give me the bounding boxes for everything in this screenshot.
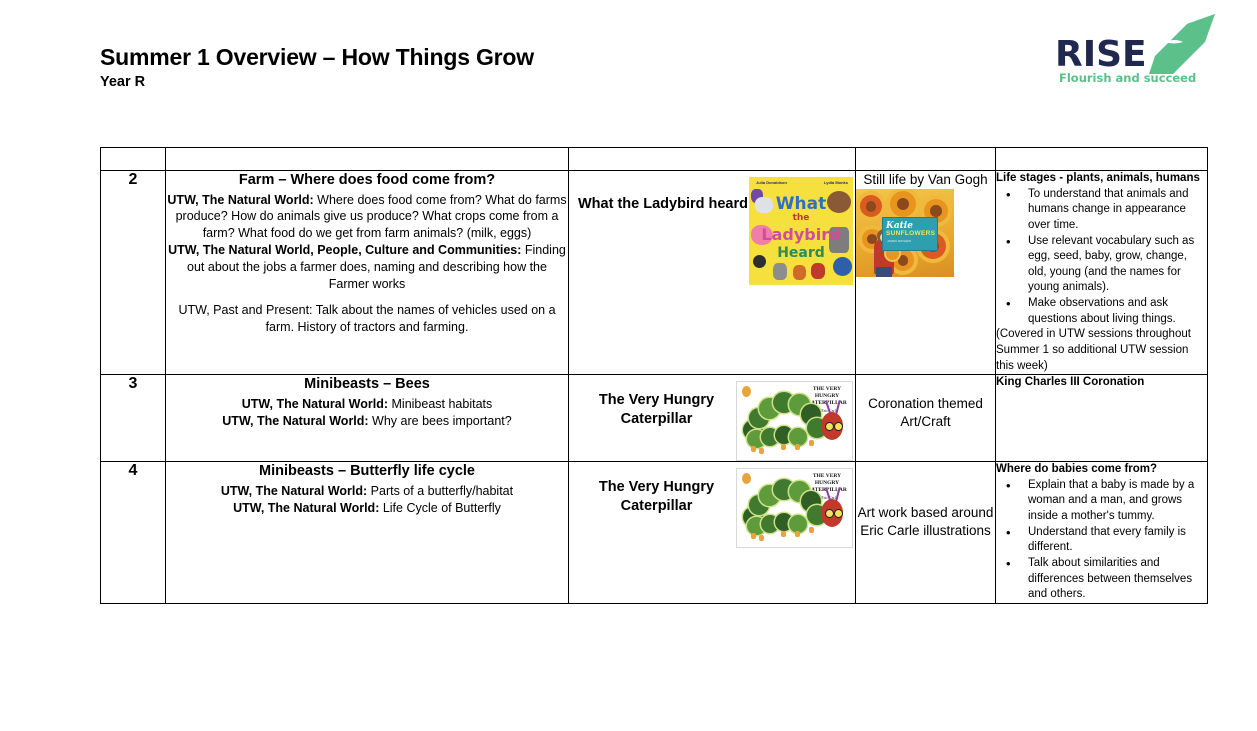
page-header: Summer 1 Overview – How Things Grow Year…: [100, 44, 1000, 91]
book-title: The Very Hungry Caterpillar: [577, 381, 736, 429]
ladybird-cover-word-1: What: [749, 194, 853, 214]
header-cell-topic: [166, 148, 569, 171]
topic-title: Farm – Where does food come from?: [166, 171, 568, 191]
book-title: What the Ladybird heard: [577, 177, 749, 214]
topic-title: Minibeasts – Bees: [166, 375, 568, 395]
topic-line-label: UTW, The Natural World:: [233, 501, 379, 515]
book-cover-the-very-hungry-caterpillar: THE VERY HUNGRY CATERPILLAR by Eric Carl…: [736, 468, 853, 548]
overview-table: 2 Farm – Where does food come from? UTW,…: [100, 147, 1208, 604]
topic-cell: Minibeasts – Butterfly life cycle UTW, T…: [166, 462, 569, 604]
topic-paragraph: UTW, Past and Present: Talk about the na…: [166, 302, 568, 336]
ladybird-author: Julia Donaldson: [756, 180, 787, 185]
other-bullet-list: Explain that a baby is made by a woman a…: [996, 478, 1207, 603]
katie-cover-subtitle: SUNFLOWERS: [886, 230, 935, 239]
other-cell: Life stages - plants, animals, humans To…: [996, 171, 1208, 375]
topic-line-text: Parts of a butterfly/habitat: [367, 484, 513, 498]
art-cell: Art work based around Eric Carle illustr…: [856, 462, 996, 604]
other-title: Life stages - plants, animals, humans: [996, 171, 1207, 187]
art-label: Art work based around Eric Carle illustr…: [856, 462, 995, 540]
other-title: Where do babies come from?: [996, 462, 1207, 478]
ladybird-cover-word-2: the: [749, 213, 853, 223]
topic-line: UTW, The Natural World: Why are bees imp…: [166, 413, 568, 430]
ladybird-illustrator: Lydia Monks: [824, 180, 848, 185]
other-note: (Covered in UTW sessions throughout Summ…: [996, 327, 1207, 374]
list-item: Explain that a baby is made by a woman a…: [1018, 478, 1207, 525]
topic-line: UTW, The Natural World, People, Culture …: [166, 242, 568, 293]
book-cover-what-the-ladybird-heard: Julia Donaldson Lydia Monks What the Lad…: [749, 177, 853, 285]
table-row: 4 Minibeasts – Butterfly life cycle UTW,…: [101, 462, 1208, 604]
katie-cover-byline: JAMES MAYHEW: [887, 239, 911, 243]
book-title: The Very Hungry Caterpillar: [577, 468, 736, 516]
art-cover-katie-and-the-sunflowers: Katie SUNFLOWERS JAMES MAYHEW: [856, 189, 995, 277]
book-cell: The Very Hungry Caterpillar THE VERY HUN…: [569, 462, 856, 604]
week-number: 3: [101, 375, 166, 462]
header-cell-other: [996, 148, 1208, 171]
book-cell: What the Ladybird heard Julia Donaldson …: [569, 171, 856, 375]
rise-logo: RISE Flourish and succeed: [1037, 12, 1215, 90]
topic-paragraph-label: UTW, Past and Present:: [178, 303, 312, 317]
topic-line: UTW, The Natural World: Minibeast habita…: [166, 396, 568, 413]
header-cell-week: [101, 148, 166, 171]
topic-cell: Farm – Where does food come from? UTW, T…: [166, 171, 569, 375]
week-number: 2: [101, 171, 166, 375]
topic-line-label: UTW, The Natural World:: [222, 414, 368, 428]
topic-line-text: Minibeast habitats: [388, 397, 492, 411]
art-label: Coronation themed Art/Craft: [856, 375, 995, 431]
table-row: 3 Minibeasts – Bees UTW, The Natural Wor…: [101, 375, 1208, 462]
list-item: Talk about similarities and differences …: [1018, 556, 1207, 603]
art-label: Still life by Van Gogh: [856, 171, 995, 189]
header-cell-art: [856, 148, 996, 171]
topic-line-text: Life Cycle of Butterfly: [379, 501, 501, 515]
table-header-row: [101, 148, 1208, 171]
topic-line-label: UTW, The Natural World:: [221, 484, 367, 498]
list-item: To understand that animals and humans ch…: [1018, 187, 1207, 234]
other-cell: Where do babies come from? Explain that …: [996, 462, 1208, 604]
list-item: Understand that every family is differen…: [1018, 525, 1207, 556]
topic-line: UTW, The Natural World: Parts of a butte…: [166, 483, 568, 500]
list-item: Use relevant vocabulary such as egg, see…: [1018, 234, 1207, 297]
topic-line: UTW, The Natural World: Where does food …: [166, 192, 568, 243]
ladybird-cover-word-4: Heard: [749, 245, 853, 261]
other-cell: King Charles III Coronation: [996, 375, 1208, 462]
svg-text:Flourish and succeed: Flourish and succeed: [1059, 71, 1196, 85]
topic-line-label: UTW, The Natural World:: [242, 397, 388, 411]
book-cover-the-very-hungry-caterpillar: THE VERY HUNGRY CATERPILLAR by Eric Carl…: [736, 381, 853, 461]
topic-title: Minibeasts – Butterfly life cycle: [166, 462, 568, 482]
topic-cell: Minibeasts – Bees UTW, The Natural World…: [166, 375, 569, 462]
table-row: 2 Farm – Where does food come from? UTW,…: [101, 171, 1208, 375]
list-item: Make observations and ask questions abou…: [1018, 296, 1207, 327]
topic-line-label: UTW, The Natural World, People, Culture …: [168, 243, 521, 257]
header-cell-book: [569, 148, 856, 171]
page-title: Summer 1 Overview – How Things Grow: [100, 44, 1000, 70]
week-number: 4: [101, 462, 166, 604]
ladybird-cover-word-3: Ladybird: [749, 225, 853, 244]
book-cell: The Very Hungry Caterpillar THE VERY HUN…: [569, 375, 856, 462]
topic-line-text: Why are bees important?: [369, 414, 512, 428]
topic-line-label: UTW, The Natural World:: [167, 193, 313, 207]
other-title: King Charles III Coronation: [996, 375, 1207, 391]
art-cell: Coronation themed Art/Craft: [856, 375, 996, 462]
topic-line: UTW, The Natural World: Life Cycle of Bu…: [166, 500, 568, 517]
page-subtitle: Year R: [100, 74, 1000, 91]
other-bullet-list: To understand that animals and humans ch…: [996, 187, 1207, 328]
svg-text:RISE: RISE: [1055, 34, 1147, 75]
art-cell: Still life by Van Gogh Katie SUNFLOWERS …: [856, 171, 996, 375]
